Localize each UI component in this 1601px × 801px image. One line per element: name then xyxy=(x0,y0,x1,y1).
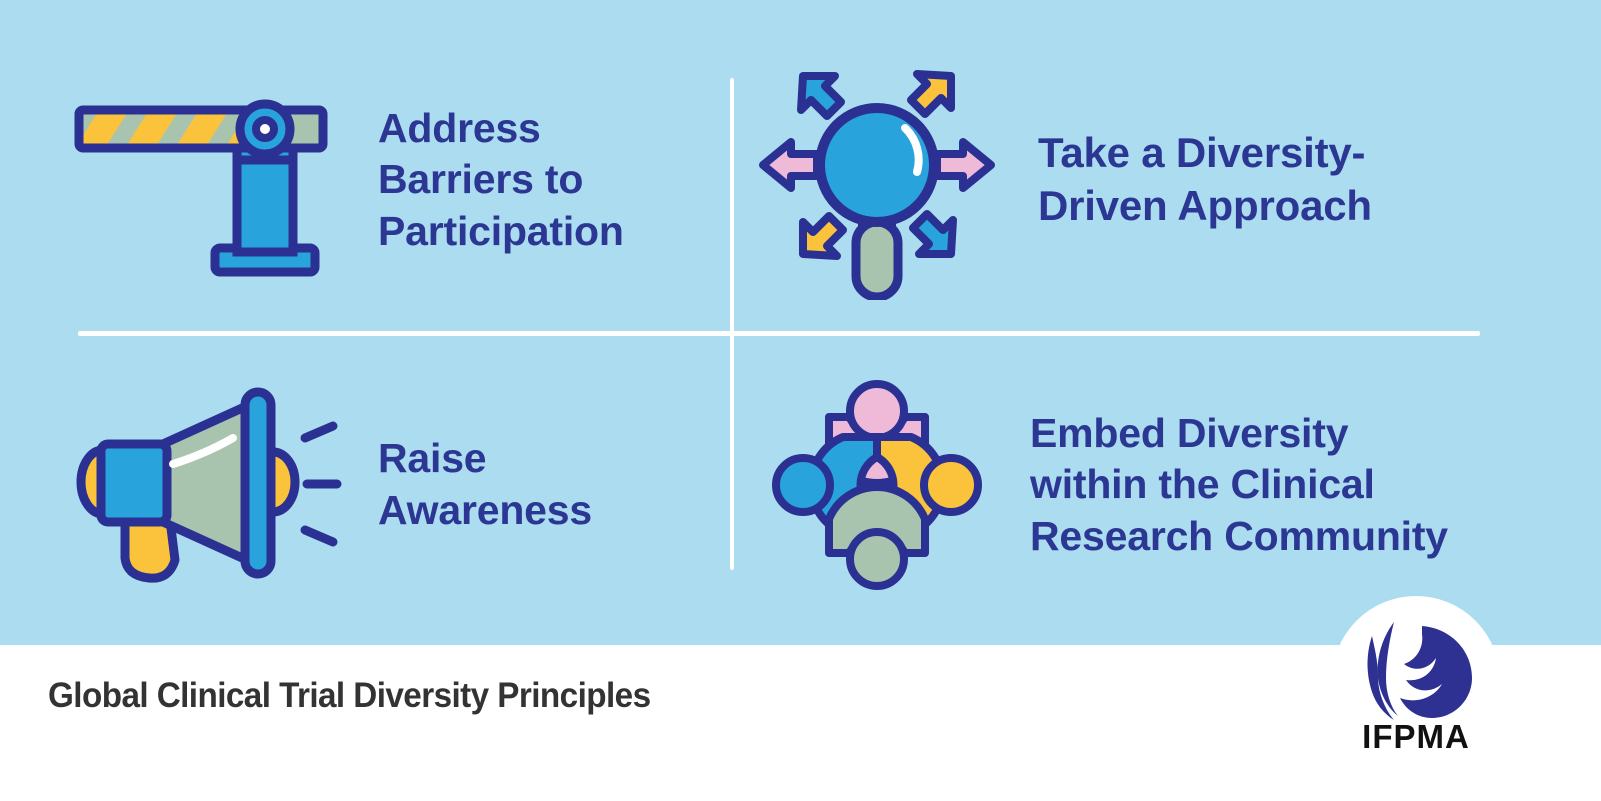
swirl-leaf-icon xyxy=(1344,620,1488,724)
ifpma-logo[interactable]: IFPMA xyxy=(1316,596,1516,776)
ifpma-wordmark: IFPMA xyxy=(1316,718,1516,756)
quadrant-address-barriers[interactable]: Address Barriers to Participation xyxy=(60,40,720,320)
footer-title: Global Clinical Trial Diversity Principl… xyxy=(48,676,651,716)
quadrant-heading: Embed Diversity within the Clinical Rese… xyxy=(1030,408,1448,563)
quadrant-heading: Take a Diversity- Driven Approach xyxy=(1038,127,1372,233)
magnifier-arrows-icon xyxy=(752,55,1002,305)
vertical-divider xyxy=(730,78,734,570)
quadrant-heading: Address Barriers to Participation xyxy=(378,103,624,258)
quadrant-diversity-driven-approach[interactable]: Take a Diversity- Driven Approach xyxy=(752,40,1572,320)
quadrant-heading: Raise Awareness xyxy=(378,433,592,536)
quadrant-raise-awareness[interactable]: Raise Awareness xyxy=(60,350,720,620)
infographic-root: Address Barriers to Participation xyxy=(0,0,1601,801)
horizontal-divider xyxy=(78,331,1480,336)
content-panel: Address Barriers to Participation xyxy=(0,0,1601,645)
barrier-gate-icon xyxy=(60,70,360,290)
megaphone-icon xyxy=(60,375,360,595)
people-circle-icon xyxy=(752,370,1002,600)
quadrant-embed-diversity[interactable]: Embed Diversity within the Clinical Rese… xyxy=(752,350,1572,620)
